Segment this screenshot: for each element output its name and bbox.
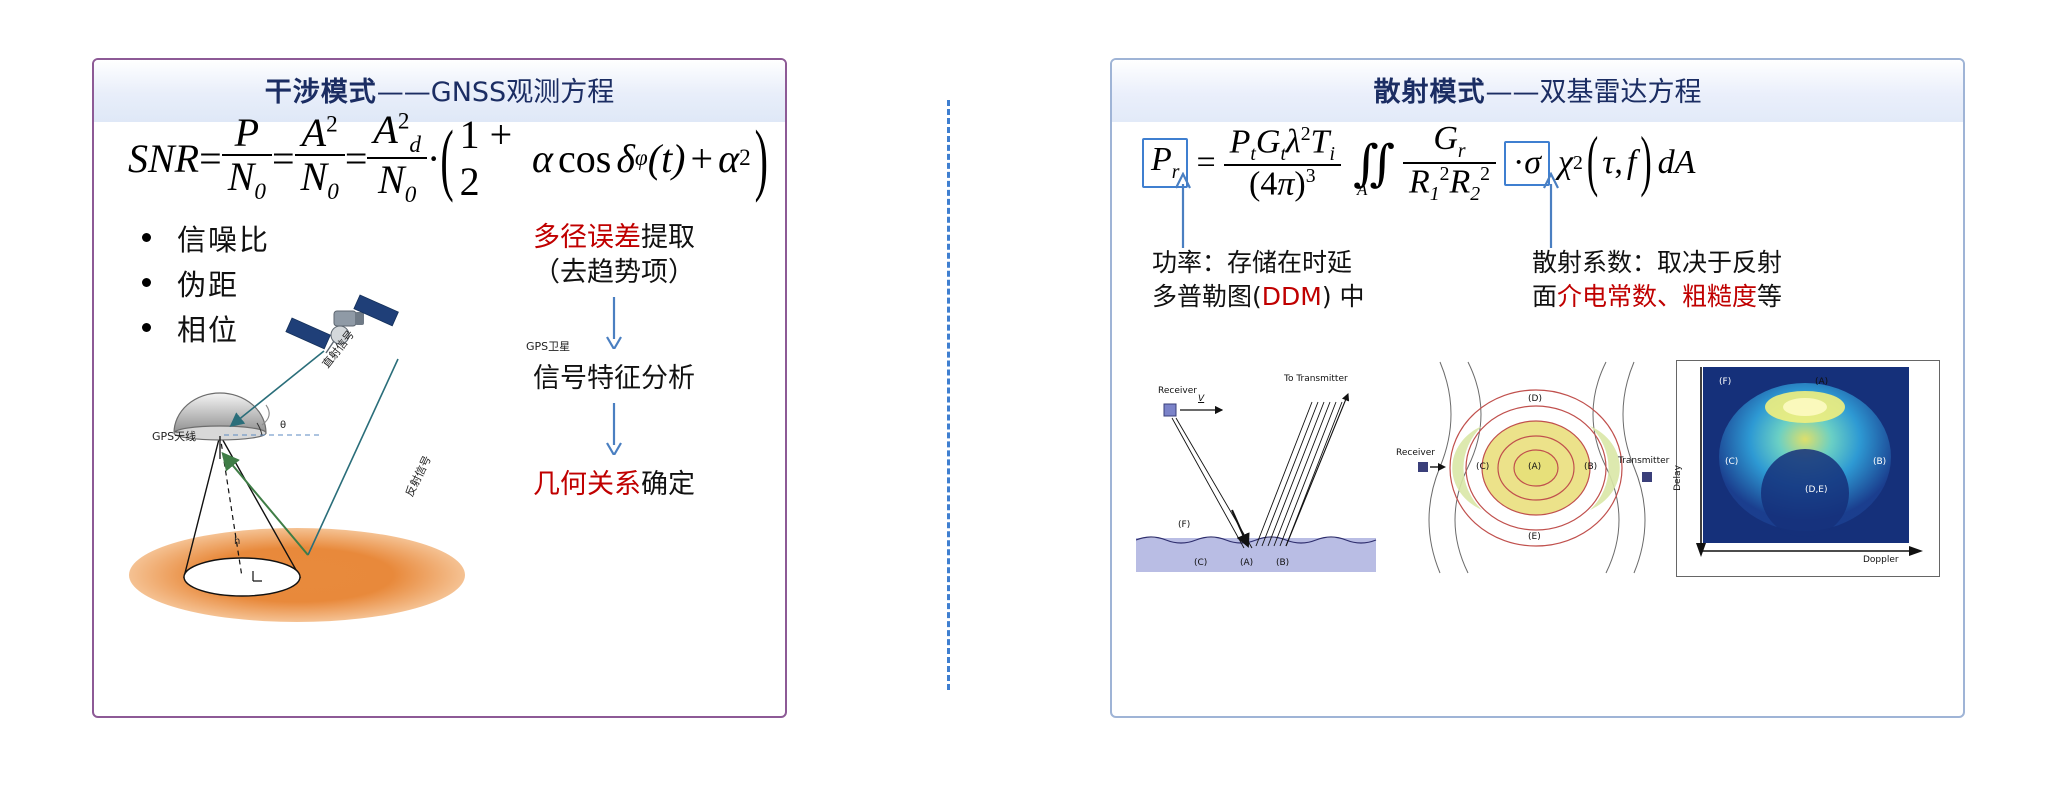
sigma-line2-keyword: 介电常数、粗糙度 — [1557, 282, 1757, 311]
sigma-symbol: σ — [1524, 144, 1541, 181]
fraction-a2-over-n0: A2 N0 — [295, 112, 345, 204]
lambda-symbol: λ — [1286, 123, 1301, 160]
snr-eq3: = — [345, 135, 368, 182]
radar-eq-sign: = — [1196, 144, 1215, 182]
fig-a-label-b: (B) — [1276, 558, 1289, 568]
frac1-numerator: P — [222, 112, 272, 154]
fig-c-label-a: (A) — [1815, 377, 1828, 387]
fig-a-label-a: (A) — [1240, 558, 1253, 568]
frac2-denominator: N — [301, 154, 328, 199]
pt-symbol: P — [1230, 123, 1251, 160]
left-panel-interferometric: 干涉模式——GNSS观测方程 SNR = P N0 = A2 N0 = A2d … — [92, 58, 787, 718]
snr-dot: · — [427, 135, 440, 182]
f-symbol: f — [1627, 144, 1636, 182]
fig-b-label-d: (D) — [1528, 394, 1542, 404]
fig-b-label-transmitter: Transmitter — [1618, 456, 1669, 466]
fig-a-label-f: (F) — [1178, 520, 1190, 530]
snr-of-t: (t) — [648, 135, 686, 182]
incoming-ray — [308, 359, 398, 555]
frac2-numerator: A — [302, 110, 326, 155]
flow-arrow-down-icon — [603, 297, 625, 349]
tau-symbol: τ — [1602, 144, 1614, 182]
transmitter-marker — [1642, 472, 1652, 482]
den-exponent: 3 — [1306, 165, 1316, 187]
frac3-numerator: A — [373, 107, 397, 152]
left-title-rest: ——GNSS观测方程 — [377, 77, 614, 108]
frac2-den-sub: 0 — [327, 179, 339, 205]
double-integral: ∬ A — [1353, 134, 1395, 192]
r1-symbol: R — [1409, 163, 1430, 200]
ddm-prefix: 多普勒图( — [1152, 282, 1262, 311]
frac3-denominator: N — [378, 157, 405, 202]
sigma-line2-suffix: 等 — [1757, 282, 1782, 311]
fig-c-label-b: (B) — [1873, 457, 1886, 467]
fig-a-label-receiver: Receiver — [1158, 386, 1197, 396]
fig-b-label-c: (C) — [1476, 462, 1489, 472]
frac3-den-sub: 0 — [405, 182, 417, 208]
diagram-label-h: h — [234, 536, 240, 547]
snr-eq2: = — [272, 135, 295, 182]
frac3-num-sup: 2 — [398, 108, 410, 134]
figure-bistatic-geometry: Receiver To Transmitter V (F) (C) (A) (B… — [1136, 360, 1386, 575]
fraction-ad2-over-n0: A2d N0 — [367, 109, 427, 208]
diagram-label-antenna: GPS天线 — [152, 428, 196, 444]
snr-cos: cos — [558, 135, 611, 182]
fig-a-label-velocity: V — [1198, 394, 1204, 404]
frac1-denominator: N — [228, 154, 255, 199]
sigma-dot: · — [1513, 144, 1524, 181]
snr-equation: SNR = P N0 = A2 N0 = A2d N0 · ( 1 + 2 α … — [128, 112, 768, 204]
gr-sub: r — [1458, 140, 1466, 162]
chi-open-paren: ( — [1587, 125, 1598, 201]
den-four: 4 — [1260, 166, 1277, 203]
snr-delta: δ — [616, 135, 635, 182]
fig-c-label-c: (C) — [1725, 457, 1738, 467]
direct-signal-ray — [232, 351, 324, 425]
r2-sub: 2 — [1470, 183, 1480, 205]
signal-ray-bundle — [1172, 402, 1342, 548]
ti-sub: i — [1329, 143, 1334, 165]
sigma-line2-prefix: 面 — [1532, 282, 1557, 311]
fig-c-axis-label-doppler: Doppler — [1863, 555, 1899, 565]
flow-step-2: 信号特征分析 — [464, 361, 764, 396]
power-annotation-line1: 功率：存储在时延 — [1152, 246, 1365, 280]
scattering-figure-row: Receiver To Transmitter V (F) (C) (A) (B… — [1136, 360, 1942, 575]
figure-iso-range-doppler: Receiver Transmitter (A) (B) (C) (D) (E) — [1396, 360, 1666, 575]
flow-step-3-black: 确定 — [641, 469, 695, 500]
snr-eq1: = — [199, 135, 222, 182]
snr-alpha: α — [532, 135, 553, 182]
flow-step-3: 几何关系确定 — [464, 467, 764, 502]
figure-delay-doppler-map: (F) (A) (C) (B) (D,E) Delay Doppler — [1676, 360, 1940, 577]
receiver-arrow — [1438, 463, 1446, 471]
flow-step-1-black: 提取 — [641, 222, 695, 253]
snr-alpha2-sup: 2 — [739, 145, 751, 172]
gt-symbol: G — [1256, 123, 1281, 160]
fig-c-label-f: (F) — [1719, 377, 1731, 387]
frac1-den-sub: 0 — [254, 179, 266, 205]
fig-c-label-de: (D,E) — [1805, 485, 1828, 495]
fig-b-label-e: (E) — [1528, 532, 1541, 542]
snr-alpha2: α — [718, 135, 739, 182]
doppler-axis-arrow — [1909, 546, 1923, 556]
bullet-label-snr: 信噪比 — [177, 217, 270, 259]
fig-b-label-a: (A) — [1528, 462, 1541, 472]
r1-sup: 2 — [1440, 163, 1450, 185]
ddm-suffix: ) 中 — [1322, 282, 1365, 311]
panel-divider — [947, 100, 950, 690]
flow-step-1-sub: （去趋势项） — [464, 255, 764, 290]
gr-symbol: G — [1433, 120, 1458, 157]
right-panel-title: 散射模式——双基雷达方程 — [1112, 70, 1963, 109]
list-item: 信噪比 — [142, 215, 402, 260]
snr-body: 1 + 2 — [460, 111, 532, 205]
chi-close-paren: ) — [1640, 125, 1651, 201]
flow-step-1-red: 多径误差 — [533, 222, 641, 253]
ti-symbol: T — [1311, 123, 1330, 160]
processing-flow-chart: 多径误差提取 （去趋势项） 信号特征分析 几何关系确定 — [464, 220, 764, 502]
power-annotation-line2: 多普勒图(DDM) 中 — [1152, 280, 1365, 314]
integral-subscript: A — [1357, 180, 1367, 200]
snr-close-paren: ) — [755, 111, 768, 205]
left-panel-title: 干涉模式——GNSS观测方程 — [94, 70, 785, 109]
r1-sub: 1 — [1430, 183, 1440, 205]
snr-lhs: SNR — [128, 135, 199, 182]
sigma-annotation-line1: 散射系数：取决于反射 — [1532, 246, 1782, 280]
right-panel-scattering: 散射模式——双基雷达方程 Pr = PtGtλ2Ti (4π)3 ∬ A Gr … — [1110, 58, 1965, 718]
fig-a-label-to-transmitter: To Transmitter — [1284, 374, 1348, 384]
pr-symbol: P — [1151, 141, 1172, 178]
power-annotation: 功率：存储在时延 多普勒图(DDM) 中 — [1152, 246, 1365, 314]
lambda-sup: 2 — [1301, 123, 1311, 145]
fig-b-label-b: (B) — [1584, 462, 1597, 472]
flow-step-3-red: 几何关系 — [533, 469, 641, 500]
dA-symbol: dA — [1658, 144, 1696, 182]
r2-sup: 2 — [1480, 163, 1490, 185]
frac3-num-sub: d — [409, 132, 421, 158]
receiver-marker — [1418, 462, 1428, 472]
delay-axis-arrow — [1696, 543, 1706, 557]
ddm-keyword: DDM — [1262, 282, 1322, 311]
den-pi: π — [1277, 166, 1294, 203]
scattering-annotation: 散射系数：取决于反射 面介电常数、粗糙度等 — [1532, 246, 1782, 314]
fig-b-label-receiver: Receiver — [1396, 448, 1435, 458]
flow-step-1: 多径误差提取 — [464, 220, 764, 255]
to-transmitter-ray — [1286, 394, 1348, 546]
right-title-bold: 散射模式 — [1374, 77, 1486, 108]
chi-sup: 2 — [1573, 152, 1583, 175]
fig-a-label-c: (C) — [1194, 558, 1207, 568]
r2-symbol: R — [1449, 163, 1470, 200]
fraction-p-over-n0: P N0 — [222, 112, 272, 204]
sigma-callout-arrow-icon — [1540, 172, 1562, 248]
frac2-num-sup: 2 — [326, 112, 338, 138]
main-fraction: PtGtλ2Ti (4π)3 — [1224, 124, 1341, 203]
fig-c-axis-label-delay: Delay — [1673, 465, 1683, 491]
diagram-label-theta: θ — [280, 420, 286, 431]
snr-plus: + — [691, 135, 714, 182]
slide-canvas: 干涉模式——GNSS观测方程 SNR = P N0 = A2 N0 = A2d … — [0, 0, 2056, 800]
bullet-dot-icon — [142, 233, 151, 242]
den-close-paren: ) — [1294, 166, 1305, 203]
left-title-bold: 干涉模式 — [265, 77, 377, 108]
right-title-rest: ——双基雷达方程 — [1486, 77, 1702, 108]
sigma-annotation-line2: 面介电常数、粗糙度等 — [1532, 280, 1782, 314]
receiver-marker — [1164, 404, 1176, 416]
snr-delta-sub: φ — [635, 145, 648, 172]
snr-open-paren: ( — [440, 111, 453, 205]
gain-range-fraction: Gr R12R22 — [1403, 121, 1496, 204]
power-callout-arrow-icon — [1172, 172, 1194, 248]
chi-comma: , — [1614, 144, 1623, 182]
ddm-peak-core — [1783, 398, 1827, 416]
flow-arrow-down-icon — [603, 403, 625, 455]
den-open-paren: ( — [1249, 166, 1260, 203]
sea-surface-band — [1136, 538, 1376, 572]
